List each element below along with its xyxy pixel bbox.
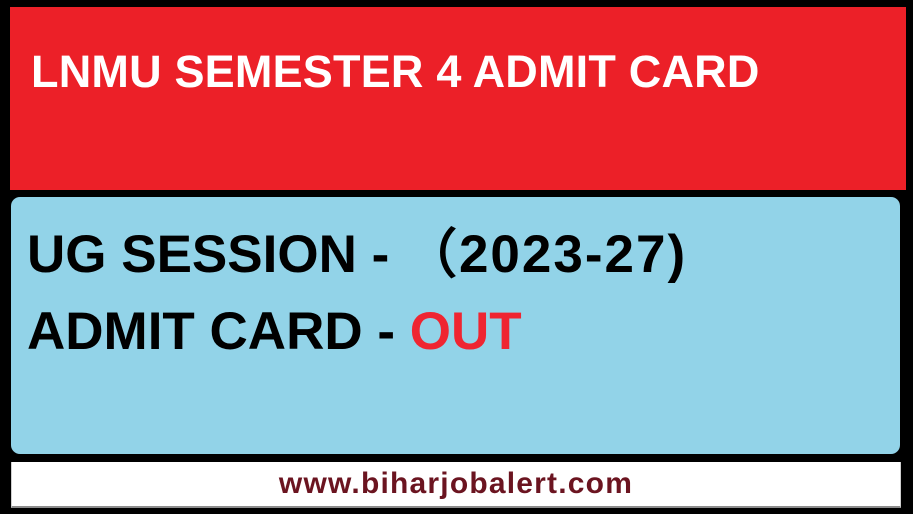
site-watermark: www.biharjobalert.com (12, 466, 900, 502)
headline-title: LNMU SEMESTER 4 ADMIT CARD (31, 45, 760, 99)
admit-card-line: ADMIT CARD - OUT (27, 302, 522, 362)
session-line: UG SESSION - （2023-27) (27, 225, 687, 285)
details-panel: UG SESSION - （2023-27) ADMIT CARD - OUT (11, 197, 900, 454)
status-badge: OUT (410, 302, 522, 361)
footer-strip: www.biharjobalert.com (11, 462, 901, 508)
headline-banner: LNMU SEMESTER 4 ADMIT CARD (10, 7, 906, 190)
poster-canvas: LNMU SEMESTER 4 ADMIT CARD UG SESSION - … (0, 0, 913, 514)
session-value: （2023-27) (404, 225, 687, 284)
admit-card-label: ADMIT CARD - (27, 302, 410, 361)
session-label: UG SESSION - (27, 225, 404, 284)
